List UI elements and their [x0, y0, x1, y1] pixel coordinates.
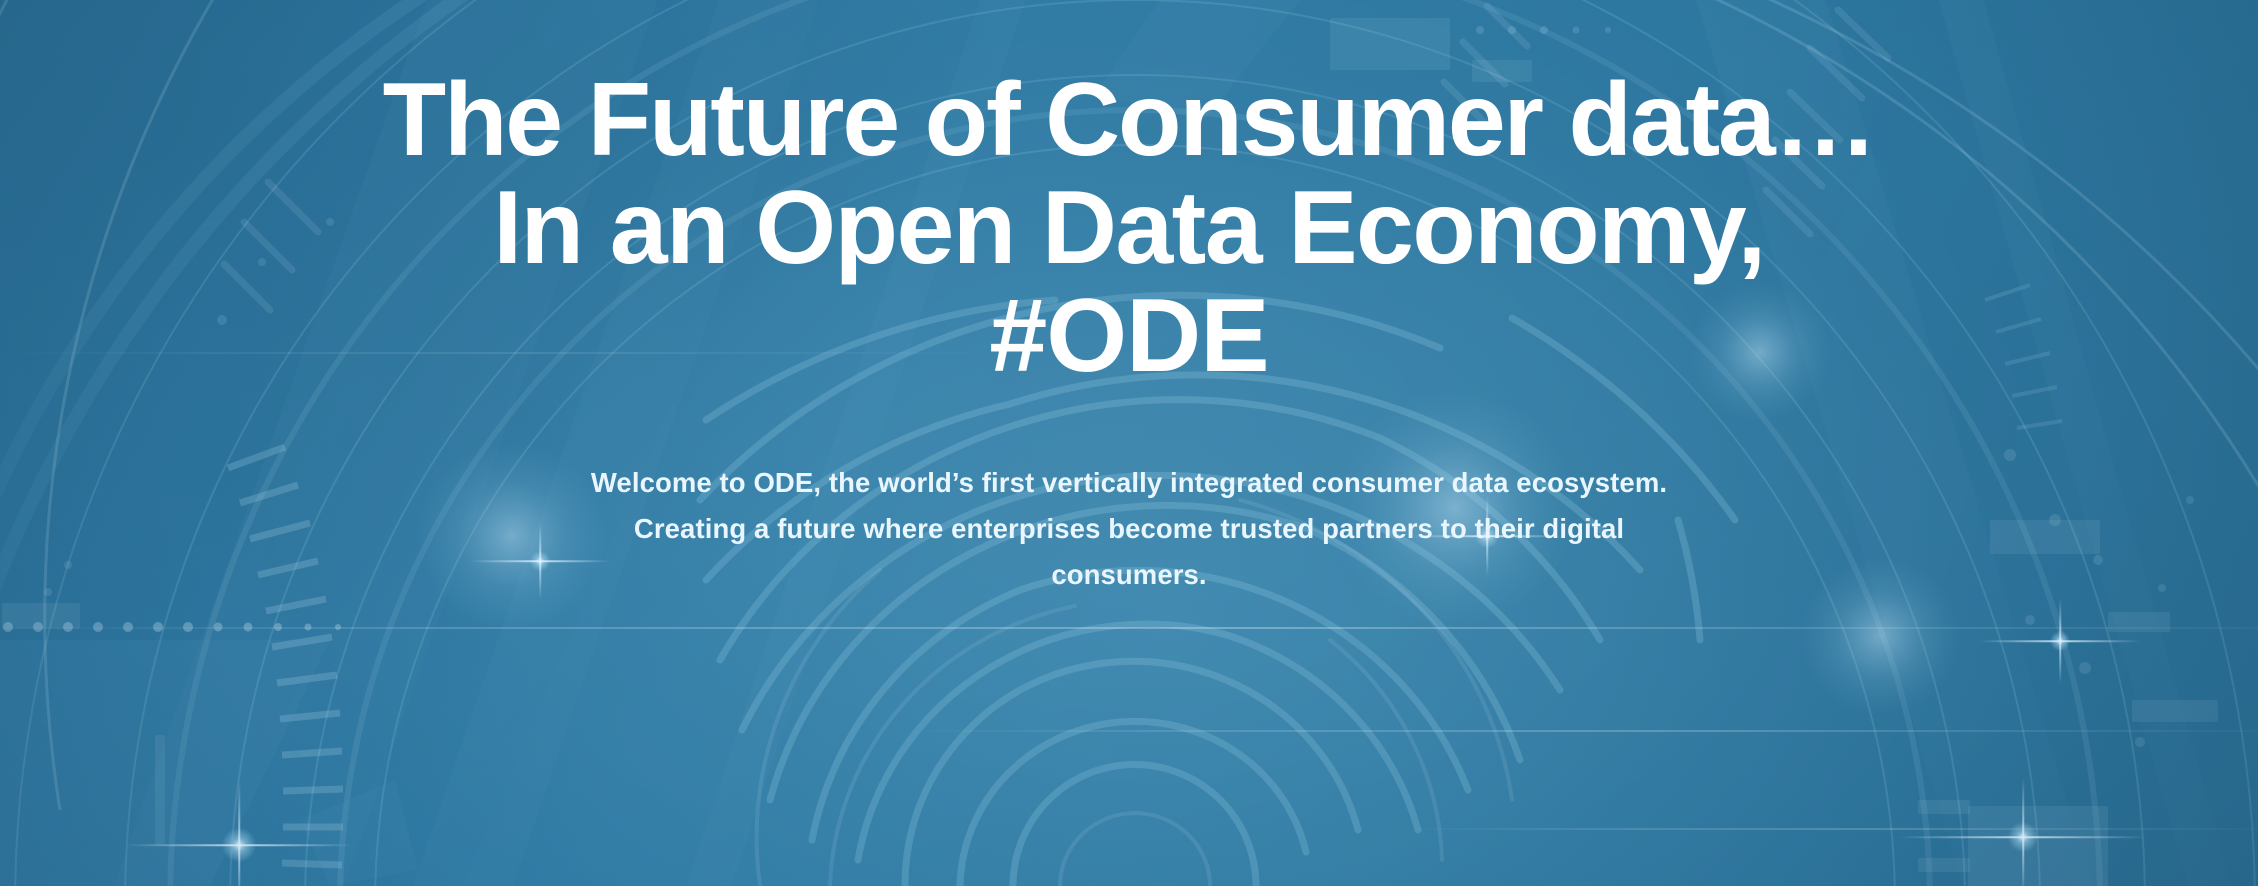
headline-line-1: The Future of Consumer data…	[0, 66, 2258, 174]
hero-content: The Future of Consumer data… In an Open …	[0, 0, 2258, 886]
headline-line-3: #ODE	[0, 282, 2258, 390]
page-title: The Future of Consumer data… In an Open …	[0, 66, 2258, 390]
subcopy-line-2: Creating a future where enterprises beco…	[544, 506, 1714, 552]
hero-banner: The Future of Consumer data… In an Open …	[0, 0, 2258, 886]
hero-subcopy: Welcome to ODE, the world’s first vertic…	[544, 460, 1714, 598]
headline-line-2: In an Open Data Economy,	[0, 174, 2258, 282]
subcopy-line-1: Welcome to ODE, the world’s first vertic…	[544, 460, 1714, 506]
subcopy-line-3: consumers.	[544, 552, 1714, 598]
